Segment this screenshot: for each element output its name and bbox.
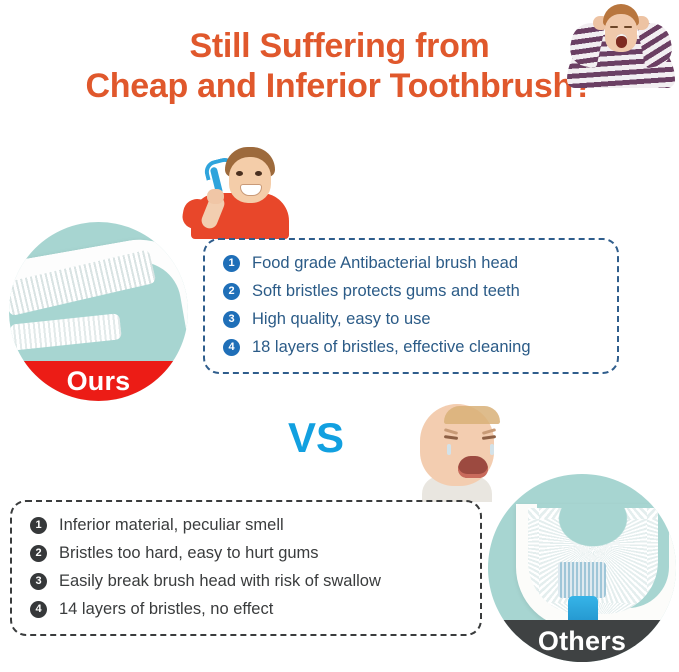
vs-label: VS	[288, 414, 344, 462]
crying-baby-photo	[404, 398, 509, 502]
others-badge: Others	[488, 620, 676, 662]
boy-face	[229, 157, 271, 203]
u-brush-center-bristles	[558, 562, 606, 598]
list-item: 1 Food grade Antibacterial brush head	[205, 249, 617, 277]
boy-right-eye	[255, 171, 262, 176]
list-number-badge: 3	[30, 573, 47, 590]
list-item: 4 18 layers of bristles, effective clean…	[205, 333, 617, 361]
list-number-badge: 4	[223, 339, 240, 356]
list-item: 3 Easily break brush head with risk of s…	[12, 567, 480, 595]
frustrated-woman-photo	[563, 0, 679, 88]
list-item: 1 Inferior material, peculiar smell	[12, 511, 480, 539]
list-number-badge: 2	[30, 545, 47, 562]
infographic-canvas: Still Suffering from Cheap and Inferior …	[0, 0, 679, 672]
list-item: 2 Soft bristles protects gums and teeth	[205, 277, 617, 305]
woman-screaming-mouth	[616, 34, 627, 48]
baby-head	[420, 404, 494, 486]
list-number-badge: 4	[30, 601, 47, 618]
boy-hand	[207, 189, 224, 204]
baby-crying-mouth	[458, 456, 488, 478]
list-item-label: Food grade Antibacterial brush head	[252, 254, 518, 273]
baby-right-brow	[482, 428, 496, 435]
boy-smile	[240, 184, 262, 196]
list-item-label: High quality, easy to use	[252, 310, 431, 329]
list-item: 4 14 layers of bristles, no effect	[12, 595, 480, 623]
ours-badge: Ours	[9, 361, 188, 401]
list-number-badge: 3	[223, 311, 240, 328]
u-shaped-toothbrush-with-blue-handle	[516, 504, 648, 616]
list-item-label: 14 layers of bristles, no effect	[59, 600, 273, 619]
baby-left-tear	[447, 444, 451, 455]
list-number-badge: 1	[223, 255, 240, 272]
list-item-label: Bristles too hard, easy to hurt gums	[59, 544, 319, 563]
others-feature-box: 1 Inferior material, peculiar smell 2 Br…	[10, 500, 482, 636]
boy-left-eye	[236, 171, 243, 176]
others-product-circle: Others	[488, 474, 676, 662]
baby-right-tear	[490, 444, 494, 455]
woman-right-eye	[624, 26, 632, 28]
others-feature-list: 1 Inferior material, peculiar smell 2 Br…	[12, 502, 480, 623]
list-item-label: Soft bristles protects gums and teeth	[252, 282, 520, 301]
list-item: 2 Bristles too hard, easy to hurt gums	[12, 539, 480, 567]
baby-left-brow	[444, 428, 458, 435]
ours-product-circle: Ours	[9, 222, 188, 401]
list-item-label: Easily break brush head with risk of swa…	[59, 572, 381, 591]
smiling-boy-with-toothbrush-photo	[177, 141, 295, 239]
woman-face	[605, 14, 637, 52]
baby-left-eye	[444, 435, 458, 440]
list-item-label: 18 layers of bristles, effective cleanin…	[252, 338, 531, 357]
ours-feature-box: 1 Food grade Antibacterial brush head 2 …	[203, 238, 619, 374]
list-item-label: Inferior material, peculiar smell	[59, 516, 284, 535]
list-item: 3 High quality, easy to use	[205, 305, 617, 333]
baby-right-eye	[482, 435, 496, 440]
list-number-badge: 2	[223, 283, 240, 300]
baby-hair	[444, 406, 500, 424]
list-number-badge: 1	[30, 517, 47, 534]
woman-left-eye	[610, 26, 618, 28]
ours-feature-list: 1 Food grade Antibacterial brush head 2 …	[205, 240, 617, 361]
